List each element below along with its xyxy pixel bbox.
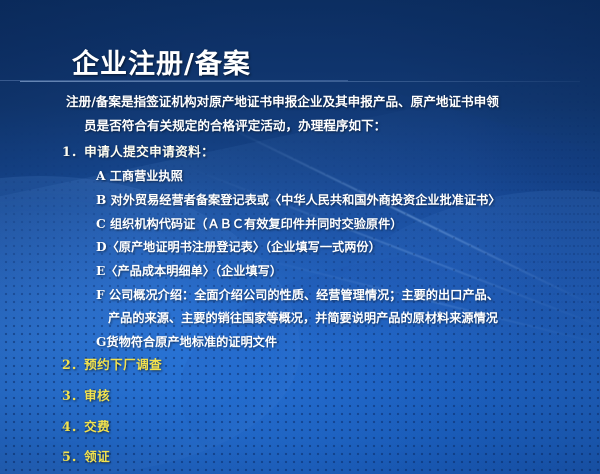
material-marker-a: A	[96, 169, 105, 183]
step-marker-2: 2．	[62, 357, 84, 372]
intro-paragraph-line-1: 注册/备案是指签证机构对原产地证书申报企业及其申报产品、原产地证书申领	[66, 96, 600, 109]
material-text-e: 〈产品成本明细单〉（企业填写）	[105, 264, 282, 278]
step-item-4: 4．交费	[62, 421, 600, 434]
step-marker-4: 4．	[62, 419, 84, 434]
step-label-2: 预约下厂调查	[84, 357, 162, 372]
material-text-d: 〈原产地证明书注册登记表〉（企业填写一式两份）	[107, 240, 381, 254]
material-item-g: G货物符合原产地标准的证明文件	[96, 336, 600, 348]
material-text-c: 组织机构代码证（ＡＢＣ有效复印件并同时交验原件）	[110, 217, 403, 231]
step-marker-1: 1．	[62, 144, 84, 159]
material-item-f: F 公司概况介绍：全面介绍公司的性质、经营管理情况；主要的出口产品、	[96, 289, 600, 301]
title-underline-rule	[20, 81, 580, 82]
material-marker-e: E	[96, 264, 105, 278]
step-item-3: 3．审核	[62, 390, 600, 403]
material-item-c: C 组织机构代码证（ＡＢＣ有效复印件并同时交验原件）	[96, 218, 600, 230]
material-item-b: B 对外贸易经营者备案登记表或〈中华人民共和国外商投资企业批准证书〉	[96, 194, 600, 206]
material-item-e: E〈产品成本明细单〉（企业填写）	[96, 265, 600, 277]
step-label-5: 领证	[84, 449, 110, 464]
step-label-3: 审核	[84, 388, 110, 403]
material-item-a: A 工商营业执照	[96, 170, 600, 182]
material-text-a: 工商营业执照	[110, 169, 183, 183]
step-item-2: 2．预约下厂调查	[62, 359, 600, 372]
presentation-slide: 企业注册/备案 注册/备案是指签证机构对原产地证书申报企业及其申报产品、原产地证…	[0, 0, 600, 474]
material-item-d: D〈原产地证明书注册登记表〉（企业填写一式两份）	[96, 241, 600, 253]
material-marker-g: G	[96, 335, 106, 349]
step-label-4: 交费	[84, 419, 110, 434]
step-item-1: 1．申请人提交申请资料：	[62, 146, 600, 159]
material-text-b: 对外贸易经营者备案登记表或〈中华人民共和国外商投资企业批准证书〉	[111, 193, 501, 207]
material-text-g: 货物符合原产地标准的证明文件	[106, 335, 277, 349]
step-marker-3: 3．	[62, 388, 84, 403]
material-item-f-continued: 产品的来源、主要的销往国家等概况，并简要说明产品的原材料来源情况	[108, 312, 600, 324]
slide-body: 注册/备案是指签证机构对原产地证书申报企业及其申报产品、原产地证书申领 员是否符…	[0, 96, 600, 474]
material-marker-c: C	[96, 217, 106, 231]
intro-paragraph-line-2: 员是否符合有关规定的合格评定活动，办理程序如下：	[84, 120, 600, 133]
step-label-1: 申请人提交申请资料：	[84, 144, 214, 159]
step-item-5: 5．领证	[62, 451, 600, 464]
step-marker-5: 5．	[62, 449, 84, 464]
material-marker-b: B	[96, 193, 106, 207]
page-title: 企业注册/备案	[72, 42, 251, 81]
material-marker-f: F	[96, 288, 105, 302]
material-text-f: 公司概况介绍：全面介绍公司的性质、经营管理情况；主要的出口产品、	[109, 288, 499, 302]
material-marker-d: D	[96, 240, 107, 254]
